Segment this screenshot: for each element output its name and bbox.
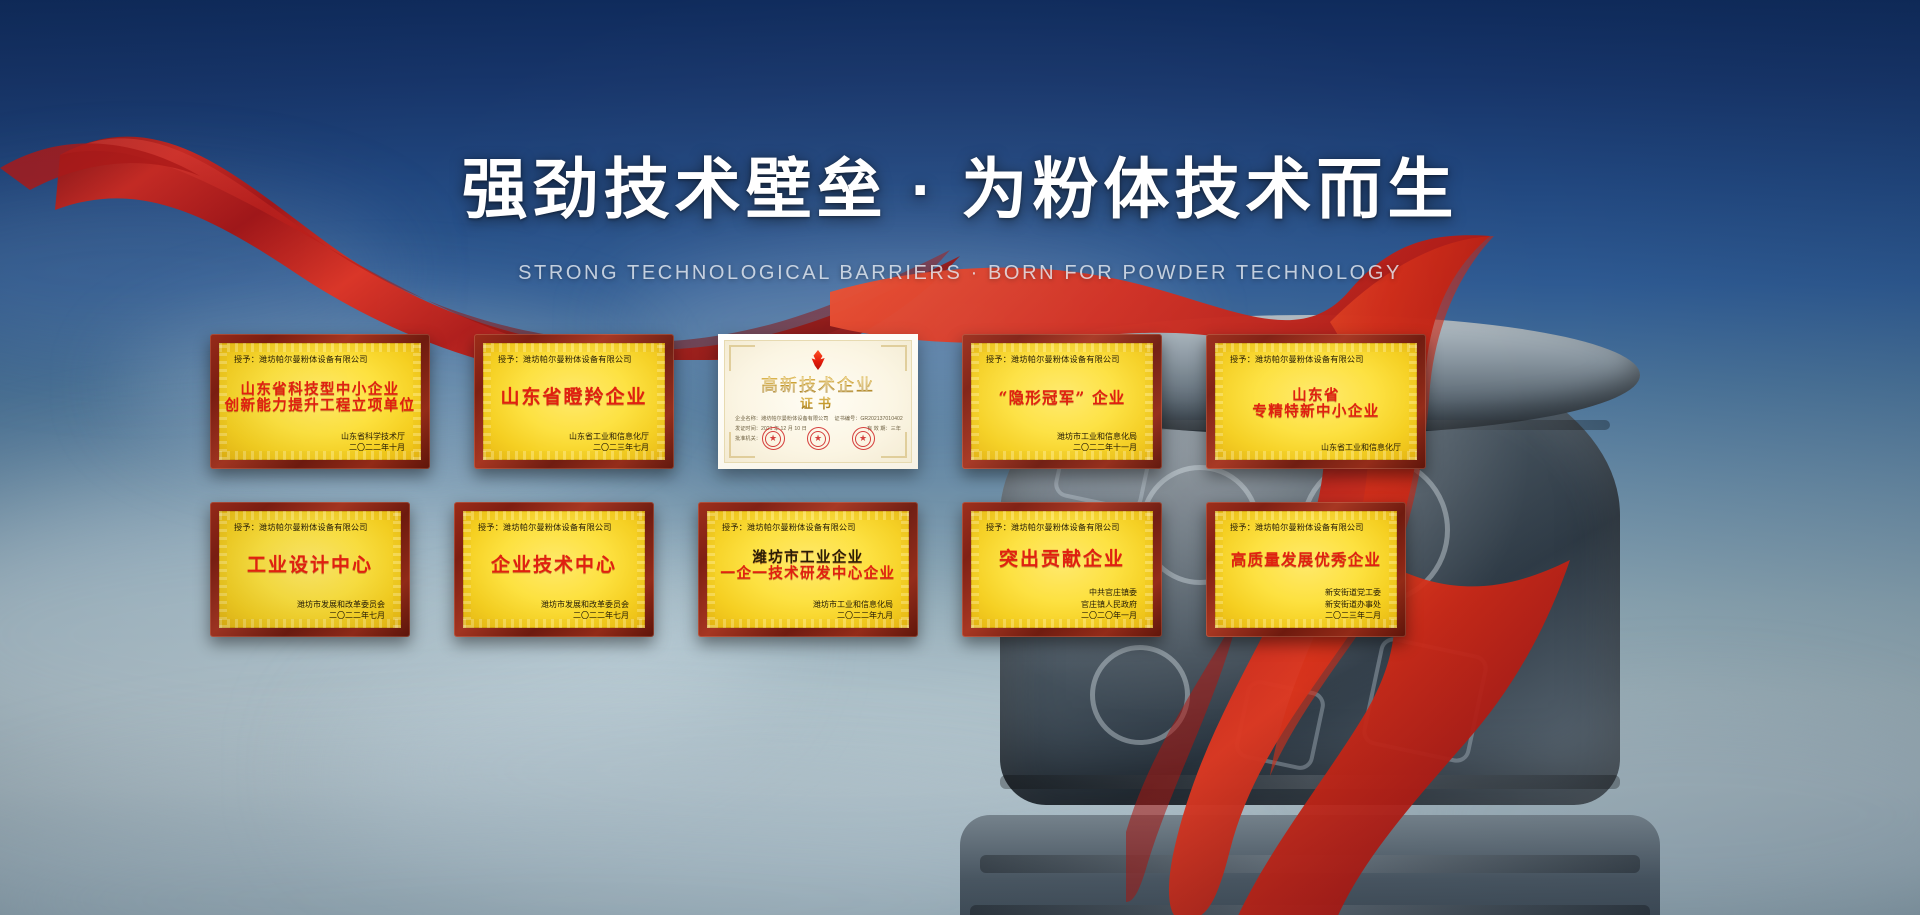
plaque-frame: 授予：潍坊帕尔曼粉体设备有限公司工业设计中心潍坊市发展和改革委员会二〇二二年七月 [210,502,410,637]
plaque-grantee-line: 授予：潍坊帕尔曼粉体设备有限公司 [498,353,650,365]
plaque-title-block: 工业设计中心 [228,533,392,599]
seal-inner-ring [855,431,871,447]
plaque-issuer-block: 潍坊市工业和信息化局二〇二二年九月 [716,599,893,622]
plaque-issuer-line: 二〇二二年十月 [228,442,405,454]
red-seal-stamp-icon [807,427,830,450]
plaque-issuer-block: 潍坊市发展和改革委员会二〇二二年七月 [472,599,629,622]
certificate-subtitle: 证书 [725,393,911,412]
plaque-issuer-line: 二〇二二年十一月 [980,442,1137,454]
plaque-title-block: 高质量发展优秀企业 [1224,533,1388,587]
plaque-title-block: 企业技术中心 [472,533,636,599]
plaque-title-line: 企业技术中心 [491,556,617,576]
red-seal-stamp-icon [852,427,875,450]
plaque-issuer-block: 新安街道党工委新安街道办事处二〇二三年二月 [1224,587,1381,622]
award-plaque[interactable]: 授予：潍坊帕尔曼粉体设备有限公司山东省专精特新中小企业山东省工业和信息化厅 [1206,334,1426,469]
plaque-frame: 授予：潍坊帕尔曼粉体设备有限公司山东省科技型中小企业创新能力提升工程立项单位山东… [210,334,430,469]
plaque-issuer-block: 山东省工业和信息化厅 [1224,442,1401,454]
plaque-grantee-line: 授予：潍坊帕尔曼粉体设备有限公司 [1230,353,1401,365]
awards-gallery: 授予：潍坊帕尔曼粉体设备有限公司山东省科技型中小企业创新能力提升工程立项单位山东… [210,334,1710,637]
plaque-face: 授予：潍坊帕尔曼粉体设备有限公司山东省科技型中小企业创新能力提升工程立项单位山东… [219,343,421,460]
awards-row: 授予：潍坊帕尔曼粉体设备有限公司工业设计中心潍坊市发展和改革委员会二〇二二年七月… [210,502,1710,637]
cloud-haze-center [330,620,1330,915]
ding-groove-2 [1000,775,1620,789]
plaque-title-line: 山东省 [1292,388,1340,403]
award-plaque[interactable]: 授予：潍坊帕尔曼粉体设备有限公司山东省瞪羚企业山东省工业和信息化厅二〇二三年七月 [474,334,674,469]
plaque-title-block: “隐形冠军” 企业 [980,365,1144,431]
plaque-grantee-line: 授予：潍坊帕尔曼粉体设备有限公司 [1230,521,1382,533]
plaque-title-line: 一企一技术研发中心企业 [721,566,896,581]
award-plaque[interactable]: 授予：潍坊帕尔曼粉体设备有限公司“隐形冠军” 企业潍坊市工业和信息化局二〇二二年… [962,334,1162,469]
plaque-frame: 授予：潍坊帕尔曼粉体设备有限公司潍坊市工业企业一企一技术研发中心企业潍坊市工业和… [698,502,918,637]
plaque-face: 授予：潍坊帕尔曼粉体设备有限公司高质量发展优秀企业新安街道党工委新安街道办事处二… [1215,511,1397,628]
plaque-frame: 授予：潍坊帕尔曼粉体设备有限公司“隐形冠军” 企业潍坊市工业和信息化局二〇二二年… [962,334,1162,469]
certificate-corner-ornament-tl [729,345,755,371]
plaque-grantee-line: 授予：潍坊帕尔曼粉体设备有限公司 [234,353,405,365]
plaque-face: 授予：潍坊帕尔曼粉体设备有限公司突出贡献企业中共官庄镇委官庄镇人民政府二〇二〇年… [971,511,1153,628]
award-plaque[interactable]: 授予：潍坊帕尔曼粉体设备有限公司突出贡献企业中共官庄镇委官庄镇人民政府二〇二〇年… [962,502,1162,637]
plaque-title-line: 突出贡献企业 [999,550,1125,570]
plaque-face: 授予：潍坊帕尔曼粉体设备有限公司山东省瞪羚企业山东省工业和信息化厅二〇二三年七月 [483,343,665,460]
plaque-issuer-line: 新安街道党工委 [1224,587,1381,599]
certificate-corner-ornament-tr [881,345,907,371]
plaque-issuer-line: 新安街道办事处 [1224,599,1381,611]
plaque-grantee-line: 授予：潍坊帕尔曼粉体设备有限公司 [986,353,1138,365]
plaque-face: 授予：潍坊帕尔曼粉体设备有限公司“隐形冠军” 企业潍坊市工业和信息化局二〇二二年… [971,343,1153,460]
plaque-issuer-line: 二〇二三年二月 [1224,610,1381,622]
plaque-issuer-line: 二〇二〇年一月 [980,610,1137,622]
plaque-grantee-line: 授予：潍坊帕尔曼粉体设备有限公司 [722,521,893,533]
awards-row: 授予：潍坊帕尔曼粉体设备有限公司山东省科技型中小企业创新能力提升工程立项单位山东… [210,334,1710,469]
red-seal-stamp-icon [762,427,785,450]
award-plaque[interactable]: 授予：潍坊帕尔曼粉体设备有限公司高质量发展优秀企业新安街道党工委新安街道办事处二… [1206,502,1406,637]
ding-pattern-swirl-2 [1360,635,1490,765]
plaque-issuer-line: 二〇二二年七月 [472,610,629,622]
award-plaque[interactable]: 授予：潍坊帕尔曼粉体设备有限公司工业设计中心潍坊市发展和改革委员会二〇二二年七月 [210,502,410,637]
plaque-face: 授予：潍坊帕尔曼粉体设备有限公司工业设计中心潍坊市发展和改革委员会二〇二二年七月 [219,511,401,628]
ding-pattern-ring-3 [1090,645,1190,745]
plaque-issuer-line: 山东省工业和信息化厅 [492,431,649,443]
plaque-issuer-block: 山东省科学技术厅二〇二二年十月 [228,431,405,454]
cloud-haze-bottom [0,770,1220,915]
ding-groove-4 [970,905,1650,915]
plaque-title-line: 工业设计中心 [247,556,373,576]
plaque-issuer-line: 二〇二二年九月 [716,610,893,622]
flame-icon [810,350,826,370]
award-plaque[interactable]: 授予：潍坊帕尔曼粉体设备有限公司潍坊市工业企业一企一技术研发中心企业潍坊市工业和… [698,502,918,637]
plaque-title-block: 突出贡献企业 [980,533,1144,587]
plaque-issuer-line: 中共官庄镇委 [980,587,1137,599]
plaque-title-line: 山东省瞪羚企业 [500,388,647,408]
plaque-title-line: 高质量发展优秀企业 [1231,552,1381,568]
plaque-grantee-line: 授予：潍坊帕尔曼粉体设备有限公司 [986,521,1138,533]
ding-groove-3 [980,855,1640,873]
plaque-issuer-block: 潍坊市工业和信息化局二〇二二年十一月 [980,431,1137,454]
ding-base [960,815,1660,915]
plaque-frame: 授予：潍坊帕尔曼粉体设备有限公司山东省专精特新中小企业山东省工业和信息化厅 [1206,334,1426,469]
plaque-title-line: “隐形冠军” 企业 [998,390,1125,406]
page-title: 强劲技术壁垒 · 为粉体技术而生 [0,136,1920,232]
plaque-title-line: 潍坊市工业企业 [752,550,863,565]
plaque-face: 授予：潍坊帕尔曼粉体设备有限公司潍坊市工业企业一企一技术研发中心企业潍坊市工业和… [707,511,909,628]
plaque-issuer-line: 二〇二二年七月 [228,610,385,622]
certificate-field-right: 证书编号：GR202137010402 [834,415,902,425]
certificate-card: 高新技术企业证书企业名称：潍坊帕尔曼粉体设备有限公司证书编号：GR2021370… [718,334,918,469]
certificate-seals [725,427,911,450]
plaque-issuer-line: 潍坊市工业和信息化局 [980,431,1137,443]
plaque-title-line: 专精特新中小企业 [1252,404,1379,419]
plaque-frame: 授予：潍坊帕尔曼粉体设备有限公司高质量发展优秀企业新安街道党工委新安街道办事处二… [1206,502,1406,637]
plaque-issuer-line: 山东省科学技术厅 [228,431,405,443]
banner-stage: 强劲技术壁垒 · 为粉体技术而生 STRONG TECHNOLOGICAL BA… [0,0,1920,915]
plaque-title-block: 山东省科技型中小企业创新能力提升工程立项单位 [228,365,412,431]
plaque-face: 授予：潍坊帕尔曼粉体设备有限公司山东省专精特新中小企业山东省工业和信息化厅 [1215,343,1417,460]
plaque-title-block: 潍坊市工业企业一企一技术研发中心企业 [716,533,900,599]
plaque-issuer-line: 山东省工业和信息化厅 [1224,442,1401,454]
plaque-issuer-line: 潍坊市工业和信息化局 [716,599,893,611]
certificate-inner: 高新技术企业证书企业名称：潍坊帕尔曼粉体设备有限公司证书编号：GR2021370… [724,340,912,463]
certificate-field-left: 企业名称：潍坊帕尔曼粉体设备有限公司 [735,415,828,425]
plaque-title-block: 山东省专精特新中小企业 [1224,365,1408,442]
plaque-issuer-line: 潍坊市发展和改革委员会 [472,599,629,611]
plaque-grantee-line: 授予：潍坊帕尔曼粉体设备有限公司 [234,521,386,533]
plaque-title-line: 山东省科技型中小企业 [241,382,400,397]
plaque-face: 授予：潍坊帕尔曼粉体设备有限公司企业技术中心潍坊市发展和改革委员会二〇二二年七月 [463,511,645,628]
certificate-field-row: 企业名称：潍坊帕尔曼粉体设备有限公司证书编号：GR202137010402 [735,415,901,425]
plaque-issuer-line: 潍坊市发展和改革委员会 [228,599,385,611]
award-plaque[interactable]: 授予：潍坊帕尔曼粉体设备有限公司山东省科技型中小企业创新能力提升工程立项单位山东… [210,334,430,469]
award-plaque[interactable]: 授予：潍坊帕尔曼粉体设备有限公司企业技术中心潍坊市发展和改革委员会二〇二二年七月 [454,502,654,637]
page-subtitle: STRONG TECHNOLOGICAL BARRIERS · BORN FOR… [0,262,1920,285]
plaque-issuer-block: 山东省工业和信息化厅二〇二三年七月 [492,431,649,454]
plaque-grantee-line: 授予：潍坊帕尔曼粉体设备有限公司 [478,521,630,533]
plaque-issuer-block: 中共官庄镇委官庄镇人民政府二〇二〇年一月 [980,587,1137,622]
plaque-frame: 授予：潍坊帕尔曼粉体设备有限公司山东省瞪羚企业山东省工业和信息化厅二〇二三年七月 [474,334,674,469]
seal-inner-ring [810,431,826,447]
plaque-title-block: 山东省瞪羚企业 [492,365,656,431]
plaque-frame: 授予：潍坊帕尔曼粉体设备有限公司企业技术中心潍坊市发展和改革委员会二〇二二年七月 [454,502,654,637]
plaque-issuer-line: 二〇二三年七月 [492,442,649,454]
plaque-frame: 授予：潍坊帕尔曼粉体设备有限公司突出贡献企业中共官庄镇委官庄镇人民政府二〇二〇年… [962,502,1162,637]
seal-inner-ring [765,431,781,447]
plaque-title-line: 创新能力提升工程立项单位 [225,398,416,413]
plaque-issuer-line: 官庄镇人民政府 [980,599,1137,611]
certificate-high-tech-enterprise[interactable]: 高新技术企业证书企业名称：潍坊帕尔曼粉体设备有限公司证书编号：GR2021370… [718,334,918,469]
plaque-issuer-block: 潍坊市发展和改革委员会二〇二二年七月 [228,599,385,622]
cloud-puff-3 [1380,700,1920,915]
ding-pattern-swirl-3 [1233,678,1328,773]
